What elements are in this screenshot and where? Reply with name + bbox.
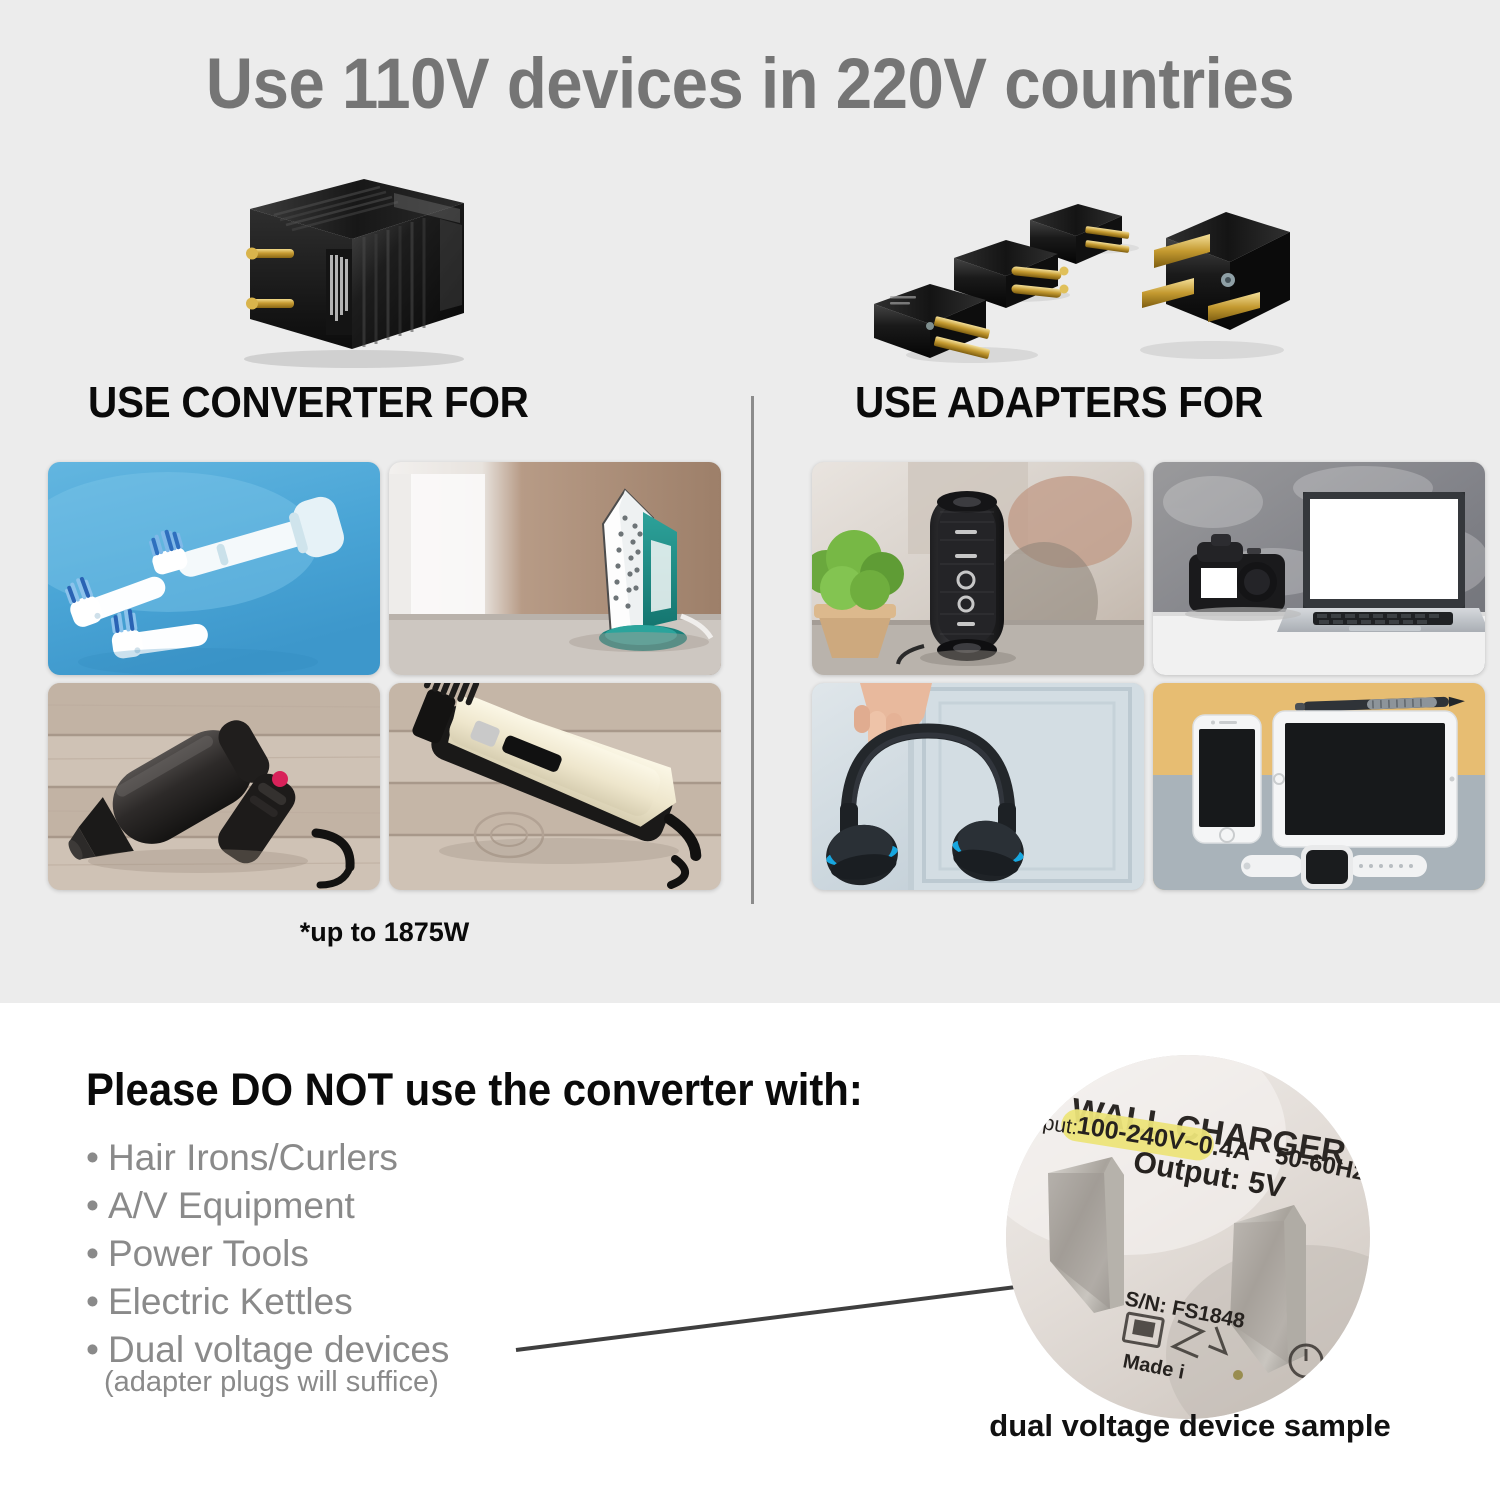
list-item-label: Power Tools	[108, 1233, 309, 1274]
converter-wattage-note: *up to 1875W	[48, 917, 721, 948]
bullet-icon: •	[86, 1230, 108, 1278]
photo-headphones	[812, 683, 1144, 890]
list-item-label: Electric Kettles	[108, 1281, 353, 1322]
photo-electric-toothbrush	[48, 462, 380, 675]
photo-steam-iron	[389, 462, 721, 675]
bullet-icon: •	[86, 1182, 108, 1230]
list-item-label: Dual voltage devices	[108, 1329, 449, 1370]
list-item: •Power Tools	[86, 1230, 606, 1278]
do-not-use-list: •Hair Irons/Curlers •A/V Equipment •Powe…	[86, 1134, 606, 1374]
photo-hair-dryer	[48, 683, 380, 890]
converter-device-grid	[48, 462, 721, 890]
list-item: •A/V Equipment	[86, 1182, 606, 1230]
bullet-icon: •	[86, 1134, 108, 1182]
section-divider	[751, 396, 754, 904]
photo-camera-and-laptop	[1153, 462, 1485, 675]
do-not-use-heading: Please DO NOT use the converter with:	[86, 1064, 863, 1116]
sample-photo-caption: dual voltage device sample	[960, 1408, 1420, 1444]
adapters-device-grid	[812, 462, 1485, 890]
page-title: Use 110V devices in 220V countries	[60, 44, 1440, 125]
bullet-icon: •	[86, 1278, 108, 1326]
adapters-section-heading: USE ADAPTERS FOR	[855, 378, 1263, 428]
photo-bluetooth-speaker	[812, 462, 1144, 675]
list-item: •Hair Irons/Curlers	[86, 1134, 606, 1182]
top-section-panel: Use 110V devices in 220V countries	[0, 0, 1500, 1003]
converter-section-heading: USE CONVERTER FOR	[88, 378, 529, 428]
dual-voltage-sample-photo: WALL CHARGER put: 100-240V~0.4A 50-60Hz …	[1006, 1055, 1370, 1419]
voltage-converter-hero-image	[214, 163, 482, 368]
travel-adapters-hero-image	[862, 190, 1312, 370]
adapter-plugs-sub-note: (adapter plugs will suffice)	[104, 1366, 439, 1399]
photo-hair-clipper	[389, 683, 721, 890]
photo-phone-tablet-watch	[1153, 683, 1485, 890]
list-item: •Electric Kettles	[86, 1278, 606, 1326]
list-item-label: A/V Equipment	[108, 1185, 355, 1226]
list-item-label: Hair Irons/Curlers	[108, 1137, 398, 1178]
